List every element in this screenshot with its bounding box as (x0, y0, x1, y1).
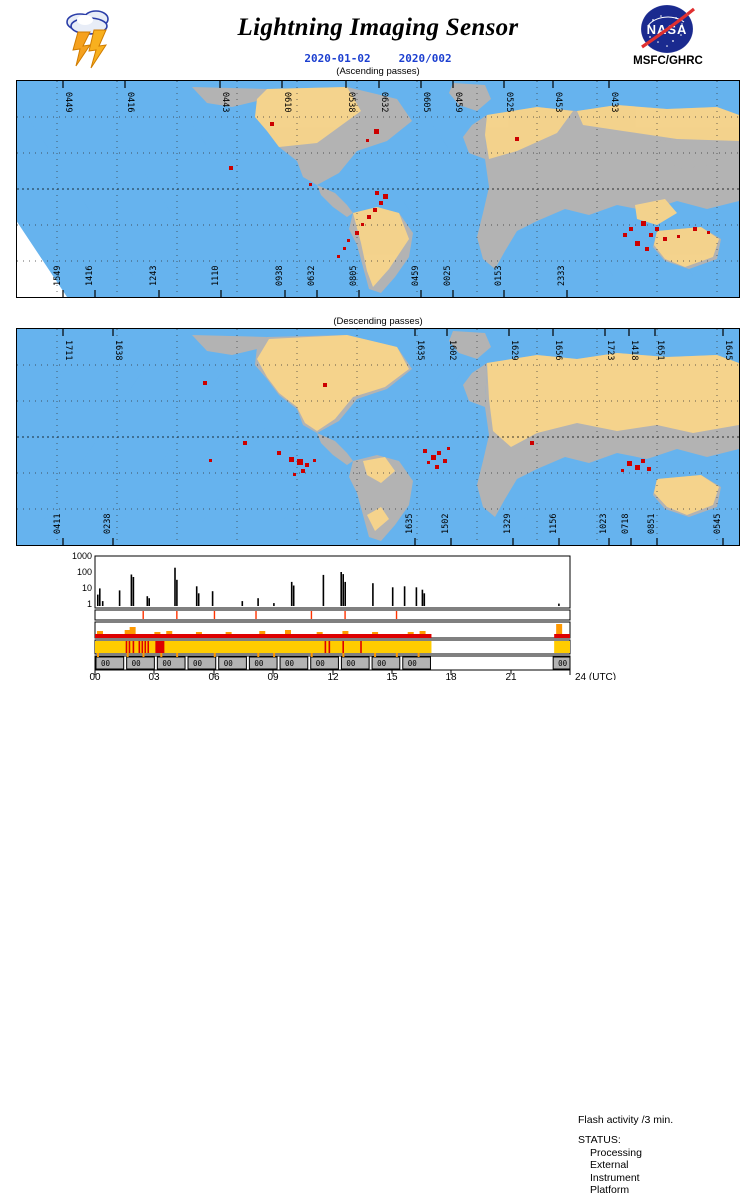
instrument-fault-block (155, 641, 164, 653)
agency-label: MSFC/GHRC (610, 55, 726, 67)
flash-bar (212, 591, 214, 606)
platform-mark (160, 653, 162, 657)
tick-label: 1416 (85, 266, 95, 286)
orbit-block-label: 00 (132, 659, 142, 668)
tick-label: 0525 (504, 92, 514, 112)
status-heading: STATUS: (578, 1134, 673, 1146)
svg-text:10: 10 (82, 583, 92, 593)
processing-status-row (95, 610, 570, 620)
tick-label: 0545 (713, 514, 723, 534)
flash-histogram-frame (95, 556, 570, 608)
processing-mark (214, 611, 215, 619)
descending-map-canvas: 1711 1638 1635 1602 1629 1656 1723 1418 (17, 329, 739, 545)
tick-label: 1635 (405, 514, 415, 534)
tick-label: 1723 (605, 340, 615, 360)
instrument-bar (554, 641, 570, 653)
tick-label: 0433 (609, 92, 619, 112)
platform-mark (97, 653, 99, 657)
flash-bar (424, 593, 426, 606)
flash-bar (344, 582, 346, 606)
platform-mark (257, 653, 259, 657)
instrument-fault-mark (126, 641, 128, 653)
tick-label: 1110 (211, 266, 221, 286)
platform-mark (342, 653, 344, 657)
tick-label: 0805 (349, 266, 359, 286)
processing-mark (344, 611, 345, 619)
tick-label: 1418 (629, 340, 639, 360)
flash-bar (198, 593, 200, 606)
flash-bar (392, 587, 394, 606)
flash-activity-panel[interactable]: 1000 100 10 1 000000000000000000000000 (0, 548, 756, 680)
flash-bar (102, 601, 104, 606)
tick-label: 1156 (549, 514, 559, 534)
instrument-fault-mark (360, 641, 362, 653)
tick-label: 0605 (421, 92, 431, 112)
instrument-fault-mark (325, 641, 327, 653)
orbit-block-label: 00 (558, 659, 568, 668)
page-header: Lightning Imaging Sensor 2020-01-022020/… (0, 0, 756, 78)
tick-label: 0411 (53, 514, 63, 534)
flash-bar (558, 604, 560, 606)
flash-bar (291, 582, 293, 606)
tick-label: 1329 (503, 514, 513, 534)
tick-label: 0851 (647, 514, 657, 534)
processing-mark (176, 611, 177, 619)
tick-label: 2333 (557, 266, 567, 286)
tick-label: 0718 (621, 514, 631, 534)
svg-text:18: 18 (445, 672, 457, 680)
flash-bar (133, 577, 135, 606)
instrument-fault-mark (144, 641, 146, 653)
utc-axis-label: 24 (UTC) (575, 672, 616, 680)
tick-label: 0610 (282, 92, 292, 112)
processing-mark (143, 611, 144, 619)
platform-mark (127, 653, 129, 657)
instrument-fault-mark (133, 641, 135, 653)
flash-bar (273, 603, 275, 606)
tick-label: 1645 (723, 340, 733, 360)
svg-text:09: 09 (267, 672, 279, 680)
flash-bar (323, 575, 325, 606)
x-axis-labels: 00 03 06 09 12 15 18 21 (89, 672, 517, 680)
processing-mark (396, 611, 397, 619)
tick-label: 0443 (220, 92, 230, 112)
svg-text:12: 12 (327, 672, 339, 680)
tick-label: 0459 (411, 266, 421, 286)
platform-mark (143, 653, 145, 657)
descending-caption: (Descending passes) (0, 316, 756, 327)
tick-label: 1651 (655, 340, 665, 360)
orbit-block-label: 00 (224, 659, 234, 668)
flash-bar (257, 598, 259, 606)
platform-mark (418, 653, 420, 657)
flash-bar (340, 572, 342, 606)
tick-label: 1711 (63, 340, 73, 360)
status-row-instrument: Instrument (578, 1172, 673, 1184)
tick-label: 1602 (447, 340, 457, 360)
tick-label: 1638 (113, 340, 123, 360)
orbit-block-label: 00 (254, 659, 264, 668)
platform-mark (396, 653, 398, 657)
flash-bar (242, 601, 244, 606)
orbit-block-label: 00 (377, 659, 387, 668)
processing-mark (255, 611, 256, 619)
ascending-map-canvas: 0449 0416 0443 0610 0538 0632 0605 0459 (17, 81, 739, 297)
tick-label: 1629 (509, 340, 519, 360)
svg-text:100: 100 (77, 567, 92, 577)
tick-label: 0632 (379, 92, 389, 112)
flash-activity-legend-label: Flash activity /3 min. (578, 1114, 673, 1126)
svg-text:1000: 1000 (72, 551, 92, 561)
day-of-year: 2020/002 (399, 52, 452, 65)
tick-label: 0938 (275, 266, 285, 286)
orbit-block-label: 00 (101, 659, 111, 668)
flash-bar (196, 586, 198, 606)
tick-label: 0459 (453, 92, 463, 112)
status-row-external: External (578, 1159, 673, 1171)
ascending-caption: (Ascending passes) (0, 66, 756, 77)
tick-label: 0025 (443, 266, 453, 286)
tick-label: 0153 (494, 266, 504, 286)
flash-bar (176, 580, 178, 606)
observation-date: 2020-01-02 (304, 52, 370, 65)
svg-text:00: 00 (89, 672, 101, 680)
flash-bar (119, 590, 121, 606)
flash-bar (147, 596, 149, 606)
tick-label: 0449 (63, 92, 73, 112)
nasa-meatball-logo: NASA (628, 4, 706, 54)
orbit-block-label: 00 (346, 659, 356, 668)
instrument-fault-mark (329, 641, 331, 653)
flash-bar (372, 583, 374, 606)
flash-bar (422, 590, 424, 606)
flash-bar (293, 586, 295, 607)
instrument-fault-mark (342, 641, 344, 653)
y-axis-labels: 1000 100 10 1 (72, 551, 92, 609)
tick-label: 1656 (553, 340, 563, 360)
status-legend: Flash activity /3 min. STATUS: Processin… (578, 1114, 673, 1196)
tick-label: 1502 (441, 514, 451, 534)
tick-label: 0453 (553, 92, 563, 112)
flash-bar (342, 574, 344, 606)
flash-bar (174, 568, 176, 606)
svg-text:1: 1 (87, 599, 92, 609)
status-row-platform: Platform (578, 1184, 673, 1196)
platform-mark (374, 653, 376, 657)
external-bar (554, 634, 570, 638)
svg-text:21: 21 (505, 672, 517, 680)
flash-bar (416, 587, 418, 606)
orbit-block-label: 00 (193, 659, 203, 668)
instrument-fault-mark (142, 641, 144, 653)
platform-mark (311, 653, 313, 657)
tick-label: 0416 (125, 92, 135, 112)
ascending-pass-map[interactable]: 0449 0416 0443 0610 0538 0632 0605 0459 (16, 80, 740, 298)
platform-mark (214, 653, 216, 657)
orbit-block-label: 00 (316, 659, 326, 668)
flash-bar (97, 595, 99, 606)
tick-label: 1243 (149, 266, 159, 286)
platform-mark (176, 653, 178, 657)
orbit-block-label: 00 (408, 659, 418, 668)
processing-mark (311, 611, 312, 619)
tick-label: 1549 (53, 266, 63, 286)
external-bar (95, 634, 431, 638)
flash-bar (99, 588, 101, 606)
tick-label: 0632 (307, 266, 317, 286)
instrument-fault-mark (129, 641, 131, 653)
tick-label: 1635 (415, 340, 425, 360)
descending-pass-map[interactable]: 1711 1638 1635 1602 1629 1656 1723 1418 (16, 328, 740, 546)
instrument-fault-mark (139, 641, 141, 653)
svg-text:15: 15 (386, 672, 398, 680)
svg-text:03: 03 (148, 672, 160, 680)
tick-label: 1023 (599, 514, 609, 534)
tick-label: 0538 (346, 92, 356, 112)
tick-label: 0238 (103, 514, 113, 534)
svg-text:06: 06 (208, 672, 220, 680)
flash-bar (148, 598, 150, 606)
flash-bar (404, 586, 406, 606)
orbit-block-label: 00 (162, 659, 172, 668)
flash-bar (131, 575, 133, 607)
instrument-fault-mark (147, 641, 149, 653)
platform-mark (273, 653, 275, 657)
status-row-processing: Processing (578, 1147, 673, 1159)
flash-activity-canvas: 1000 100 10 1 000000000000000000000000 (0, 548, 756, 680)
orbit-block-label: 00 (285, 659, 295, 668)
